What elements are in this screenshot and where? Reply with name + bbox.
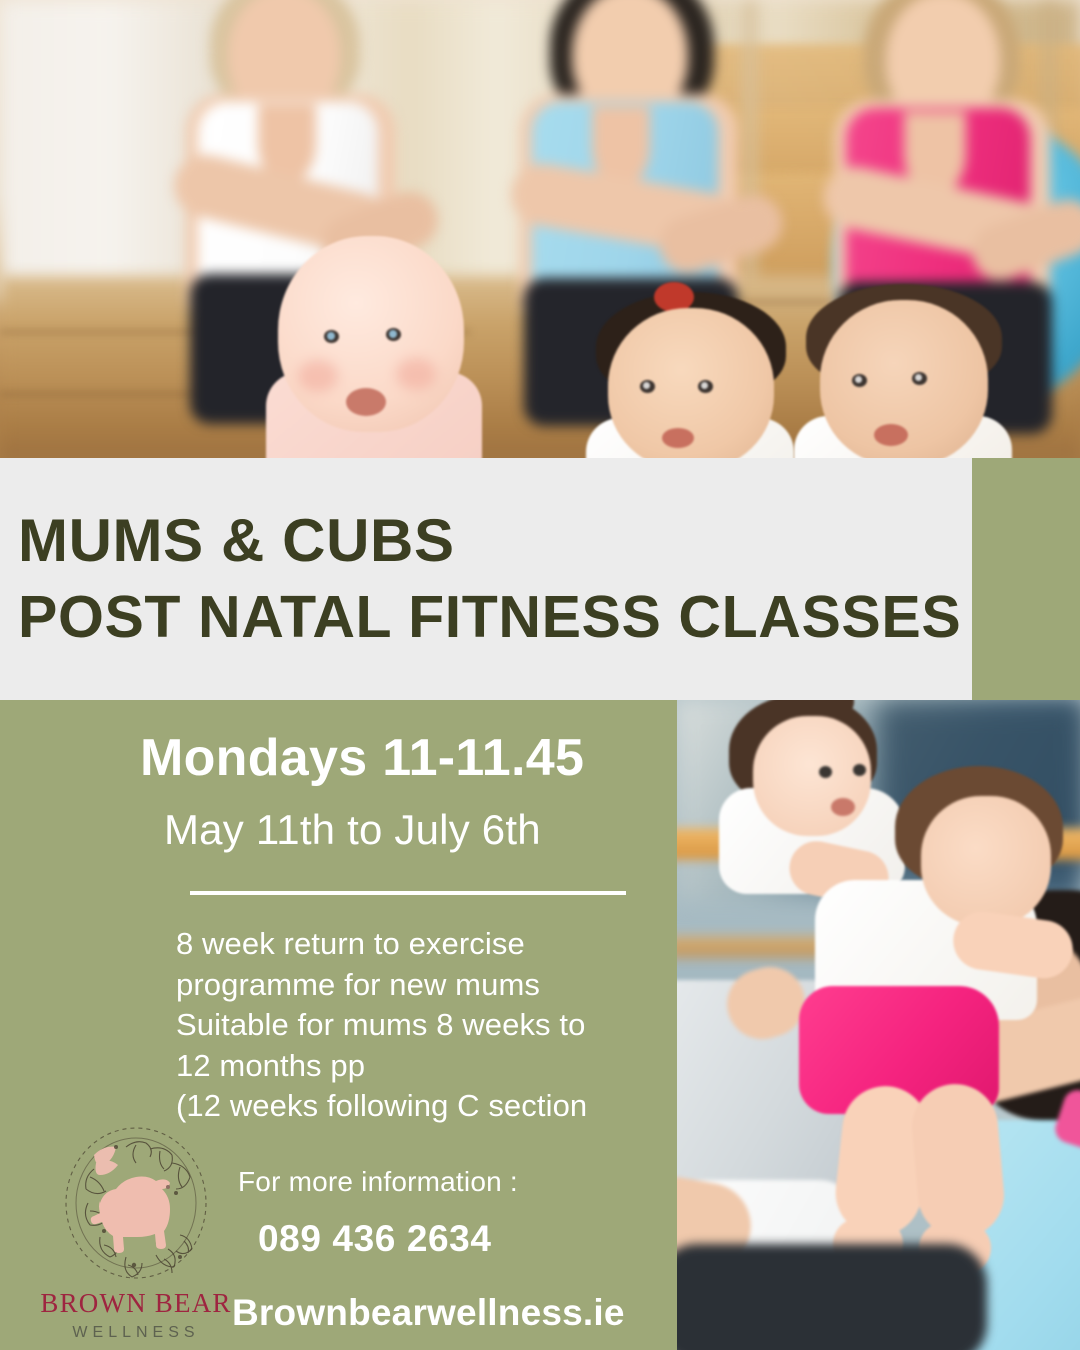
mouth (874, 424, 908, 446)
logo-brand-name: BROWN BEAR (38, 1288, 234, 1319)
detail-line: Suitable for mums 8 weeks to (176, 1005, 676, 1046)
detail-line: 8 week return to exercise (176, 924, 676, 965)
mouth (662, 428, 694, 448)
schedule-dates: May 11th to July 6th (164, 806, 704, 854)
foreground-baby-left (250, 236, 500, 462)
baby-center-held (785, 766, 1065, 1286)
contact-phone[interactable]: 089 436 2634 (258, 1218, 492, 1260)
detail-line: (12 weeks following C section (176, 1086, 676, 1127)
mouth (346, 388, 386, 416)
brand-logo: BROWN BEAR WELLNESS (38, 1125, 234, 1350)
page-title-line-2: POST NATAL FITNESS CLASSES (18, 580, 972, 656)
page-title-line-1: MUMS & CUBS (18, 503, 972, 580)
eye-left (852, 374, 867, 387)
title-band: MUMS & CUBS POST NATAL FITNESS CLASSES (0, 458, 972, 700)
cheek-left (298, 360, 338, 392)
section-divider (190, 891, 626, 895)
photo-top-mums-and-babies (0, 0, 1080, 462)
eye-left (324, 330, 339, 343)
eye-right (386, 328, 401, 341)
eye-left (640, 380, 655, 393)
contact-website[interactable]: Brownbearwellness.ie (232, 1292, 625, 1334)
head (921, 796, 1051, 926)
detail-line: 12 months pp (176, 1046, 676, 1087)
green-right-column (972, 458, 1080, 700)
eye-right (912, 372, 927, 385)
schedule-time: Mondays 11-11.45 (140, 728, 680, 788)
foreground-baby-center (580, 288, 800, 462)
programme-details: 8 week return to exercise programme for … (176, 924, 676, 1127)
photo-bottom-lifting-babies (677, 700, 1080, 1350)
eye-right (698, 380, 713, 393)
contact-label: For more information : (238, 1166, 518, 1198)
foreground-baby-right (790, 282, 1020, 462)
cheek-right (396, 358, 436, 390)
detail-line: programme for new mums (176, 965, 676, 1006)
bear-wreath-icon (60, 1125, 212, 1285)
foreground-legs (677, 1244, 987, 1350)
logo-subtitle: WELLNESS (38, 1324, 234, 1342)
poster-root: MUMS & CUBS POST NATAL FITNESS CLASSES M… (0, 0, 1080, 1350)
